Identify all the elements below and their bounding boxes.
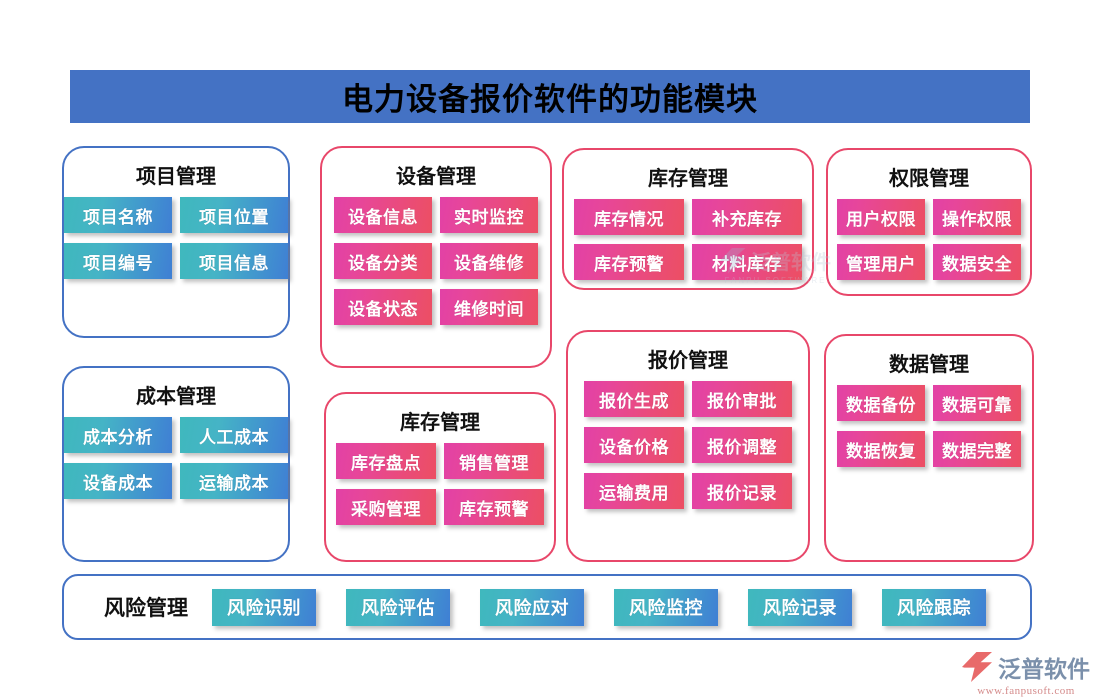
tag-item[interactable]: 成本分析 — [64, 417, 172, 453]
panel-permission: 权限管理 用户权限 操作权限 管理用户 数据安全 — [826, 148, 1032, 296]
panel-cost: 成本管理 成本分析 人工成本 设备成本 运输成本 — [62, 366, 290, 562]
slide-title-bar: 电力设备报价软件的功能模块 — [70, 70, 1030, 123]
tag-item[interactable]: 人工成本 — [180, 417, 288, 453]
tag-item[interactable]: 用户权限 — [837, 199, 925, 235]
tag-item[interactable]: 设备状态 — [334, 289, 432, 325]
panel-title: 报价管理 — [648, 344, 728, 373]
brand-logo: 泛普软件 www.fanpusoft.com — [962, 650, 1090, 697]
tag-item[interactable]: 风险跟踪 — [882, 589, 986, 626]
brand-url: www.fanpusoft.com — [977, 685, 1075, 697]
tag-row: 风险识别 风险评估 风险应对 风险监控 风险记录 风险跟踪 — [212, 589, 986, 626]
tag-grid: 成本分析 人工成本 设备成本 运输成本 — [64, 417, 288, 499]
slide-canvas: 电力设备报价软件的功能模块 项目管理 项目名称 项目位置 项目编号 项目信息 设… — [0, 0, 1100, 700]
tag-item[interactable]: 风险记录 — [748, 589, 852, 626]
tag-item[interactable]: 报价记录 — [692, 473, 792, 509]
tag-item[interactable]: 项目信息 — [180, 243, 288, 279]
tag-item[interactable]: 数据安全 — [933, 244, 1021, 280]
tag-item[interactable]: 设备价格 — [584, 427, 684, 463]
tag-item[interactable]: 运输费用 — [584, 473, 684, 509]
panel-project: 项目管理 项目名称 项目位置 项目编号 项目信息 — [62, 146, 290, 338]
panel-title: 设备管理 — [396, 160, 476, 189]
brand-name: 泛普软件 — [998, 650, 1090, 684]
tag-item[interactable]: 库存盘点 — [336, 443, 436, 479]
tag-item[interactable]: 补充库存 — [692, 199, 802, 235]
tag-item[interactable]: 销售管理 — [444, 443, 544, 479]
panel-equipment: 设备管理 设备信息 实时监控 设备分类 设备维修 设备状态 维修时间 — [320, 146, 552, 368]
tag-grid: 设备信息 实时监控 设备分类 设备维修 设备状态 维修时间 — [334, 197, 538, 325]
tag-item[interactable]: 实时监控 — [440, 197, 538, 233]
page-title: 电力设备报价软件的功能模块 — [342, 74, 758, 119]
panel-title: 库存管理 — [648, 162, 728, 191]
tag-item[interactable]: 项目编号 — [64, 243, 172, 279]
panel-title: 风险管理 — [104, 592, 188, 622]
tag-item[interactable]: 数据可靠 — [933, 385, 1021, 421]
tag-grid: 数据备份 数据可靠 数据恢复 数据完整 — [837, 385, 1021, 467]
tag-grid: 库存盘点 销售管理 采购管理 库存预警 — [336, 443, 544, 525]
tag-item[interactable]: 操作权限 — [933, 199, 1021, 235]
tag-item[interactable]: 库存情况 — [574, 199, 684, 235]
tag-grid: 用户权限 操作权限 管理用户 数据安全 — [837, 199, 1021, 280]
tag-item[interactable]: 设备维修 — [440, 243, 538, 279]
tag-item[interactable]: 报价审批 — [692, 381, 792, 417]
panel-title: 数据管理 — [889, 348, 969, 377]
tag-item[interactable]: 材料库存 — [692, 244, 802, 280]
tag-item[interactable]: 项目位置 — [180, 197, 288, 233]
panel-title: 库存管理 — [400, 406, 480, 435]
tag-item[interactable]: 设备分类 — [334, 243, 432, 279]
panel-inventory-top: 库存管理 库存情况 补充库存 库存预警 材料库存 — [562, 148, 814, 290]
panel-title: 成本管理 — [136, 380, 216, 409]
tag-grid: 报价生成 报价审批 设备价格 报价调整 运输费用 报价记录 — [584, 381, 792, 509]
tag-item[interactable]: 风险应对 — [480, 589, 584, 626]
tag-item[interactable]: 设备成本 — [64, 463, 172, 499]
tag-item[interactable]: 报价调整 — [692, 427, 792, 463]
tag-item[interactable]: 库存预警 — [574, 244, 684, 280]
tag-grid: 项目名称 项目位置 项目编号 项目信息 — [64, 197, 288, 279]
tag-item[interactable]: 风险识别 — [212, 589, 316, 626]
tag-item[interactable]: 管理用户 — [837, 244, 925, 280]
tag-item[interactable]: 运输成本 — [180, 463, 288, 499]
panel-quotation: 报价管理 报价生成 报价审批 设备价格 报价调整 运输费用 报价记录 — [566, 330, 810, 562]
fanpu-logo-icon — [962, 652, 992, 682]
tag-item[interactable]: 设备信息 — [334, 197, 432, 233]
tag-item[interactable]: 库存预警 — [444, 489, 544, 525]
tag-item[interactable]: 风险监控 — [614, 589, 718, 626]
panel-data: 数据管理 数据备份 数据可靠 数据恢复 数据完整 — [824, 334, 1034, 562]
tag-item[interactable]: 项目名称 — [64, 197, 172, 233]
tag-item[interactable]: 报价生成 — [584, 381, 684, 417]
panel-inventory-bottom: 库存管理 库存盘点 销售管理 采购管理 库存预警 — [324, 392, 556, 562]
brand-row: 泛普软件 — [962, 650, 1090, 684]
tag-grid: 库存情况 补充库存 库存预警 材料库存 — [574, 199, 802, 280]
tag-item[interactable]: 数据恢复 — [837, 431, 925, 467]
tag-item[interactable]: 维修时间 — [440, 289, 538, 325]
tag-item[interactable]: 采购管理 — [336, 489, 436, 525]
panel-risk: 风险管理 风险识别 风险评估 风险应对 风险监控 风险记录 风险跟踪 — [62, 574, 1032, 640]
panel-title: 项目管理 — [136, 160, 216, 189]
panel-title: 权限管理 — [889, 162, 969, 191]
tag-item[interactable]: 数据完整 — [933, 431, 1021, 467]
tag-item[interactable]: 风险评估 — [346, 589, 450, 626]
tag-item[interactable]: 数据备份 — [837, 385, 925, 421]
